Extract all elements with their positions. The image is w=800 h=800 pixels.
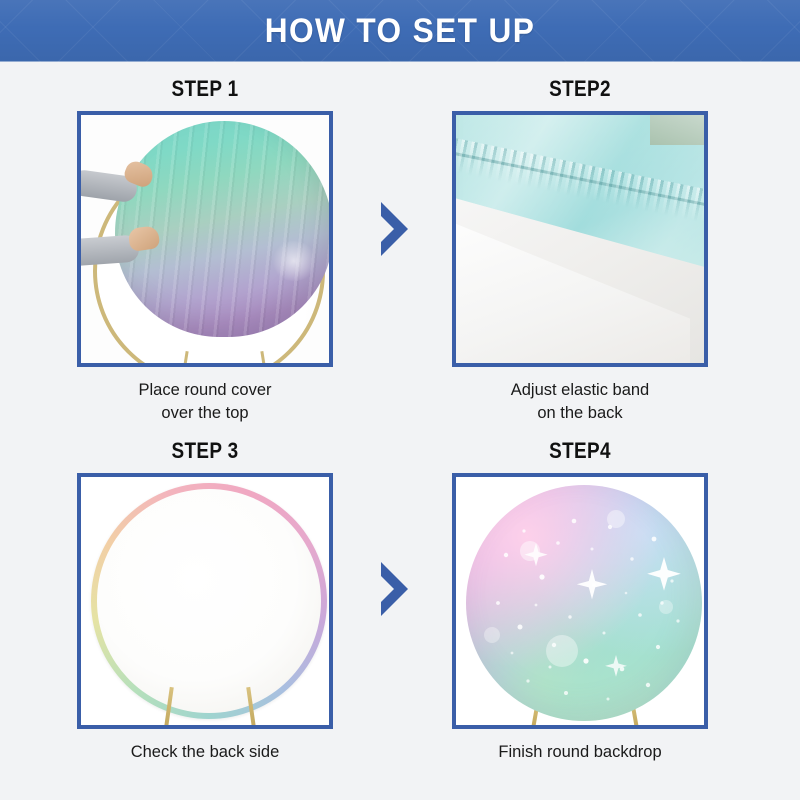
hoop-leg-right [260, 351, 268, 363]
step-caption-4-line1: Finish round backdrop [447, 741, 713, 764]
photo2-corner-shadow [650, 115, 704, 145]
white-backdrop-face [97, 489, 321, 713]
step-card-1: STEP 1 [72, 76, 338, 426]
photo-finish-round-backdrop [456, 477, 704, 725]
step-label-3: STEP 3 [91, 438, 320, 464]
step-caption-2-line1: Adjust elastic band [447, 379, 713, 402]
step-photo-frame-2 [452, 111, 708, 367]
step-caption-4: Finish round backdrop [447, 741, 713, 764]
photo-check-back-side [81, 477, 329, 725]
pastel-rainbow-rim [91, 483, 327, 719]
step-photo-frame-3 [77, 473, 333, 729]
step-photo-frame-4 [452, 473, 708, 729]
steps-grid: STEP 1 [0, 62, 800, 800]
step-label-2: STEP2 [466, 76, 695, 102]
step-photo-frame-1 [77, 111, 333, 367]
step-caption-3-line1: Check the back side [72, 741, 338, 764]
step-card-2: STEP2 Adjust elastic band on the back [447, 76, 713, 426]
photo-place-round-cover [81, 115, 329, 363]
chevron-right-icon-top [378, 200, 412, 258]
sparkle-overlay [466, 485, 702, 721]
finished-gradient-backdrop [466, 485, 702, 721]
step-caption-3: Check the back side [72, 741, 338, 764]
step-card-3: STEP 3 Check the back side [72, 438, 338, 764]
page-title: HOW TO SET UP [28, 0, 772, 62]
step-caption-1-line1: Place round cover [72, 379, 338, 402]
chevron-right-icon-bottom [378, 560, 412, 618]
step-label-4: STEP4 [466, 438, 695, 464]
header-banner: HOW TO SET UP [0, 0, 800, 62]
step-caption-1-line2: over the top [72, 402, 338, 425]
photo-adjust-elastic-band [456, 115, 704, 363]
how-to-set-up-infographic: HOW TO SET UP STEP 1 [0, 0, 800, 800]
hoop-leg-left [180, 351, 188, 363]
step-card-4: STEP4 [447, 438, 713, 764]
fabric-highlight [271, 241, 317, 281]
step-caption-2-line2: on the back [447, 402, 713, 425]
step-caption-2: Adjust elastic band on the back [447, 379, 713, 426]
step-caption-1: Place round cover over the top [72, 379, 338, 426]
step-label-1: STEP 1 [91, 76, 320, 102]
